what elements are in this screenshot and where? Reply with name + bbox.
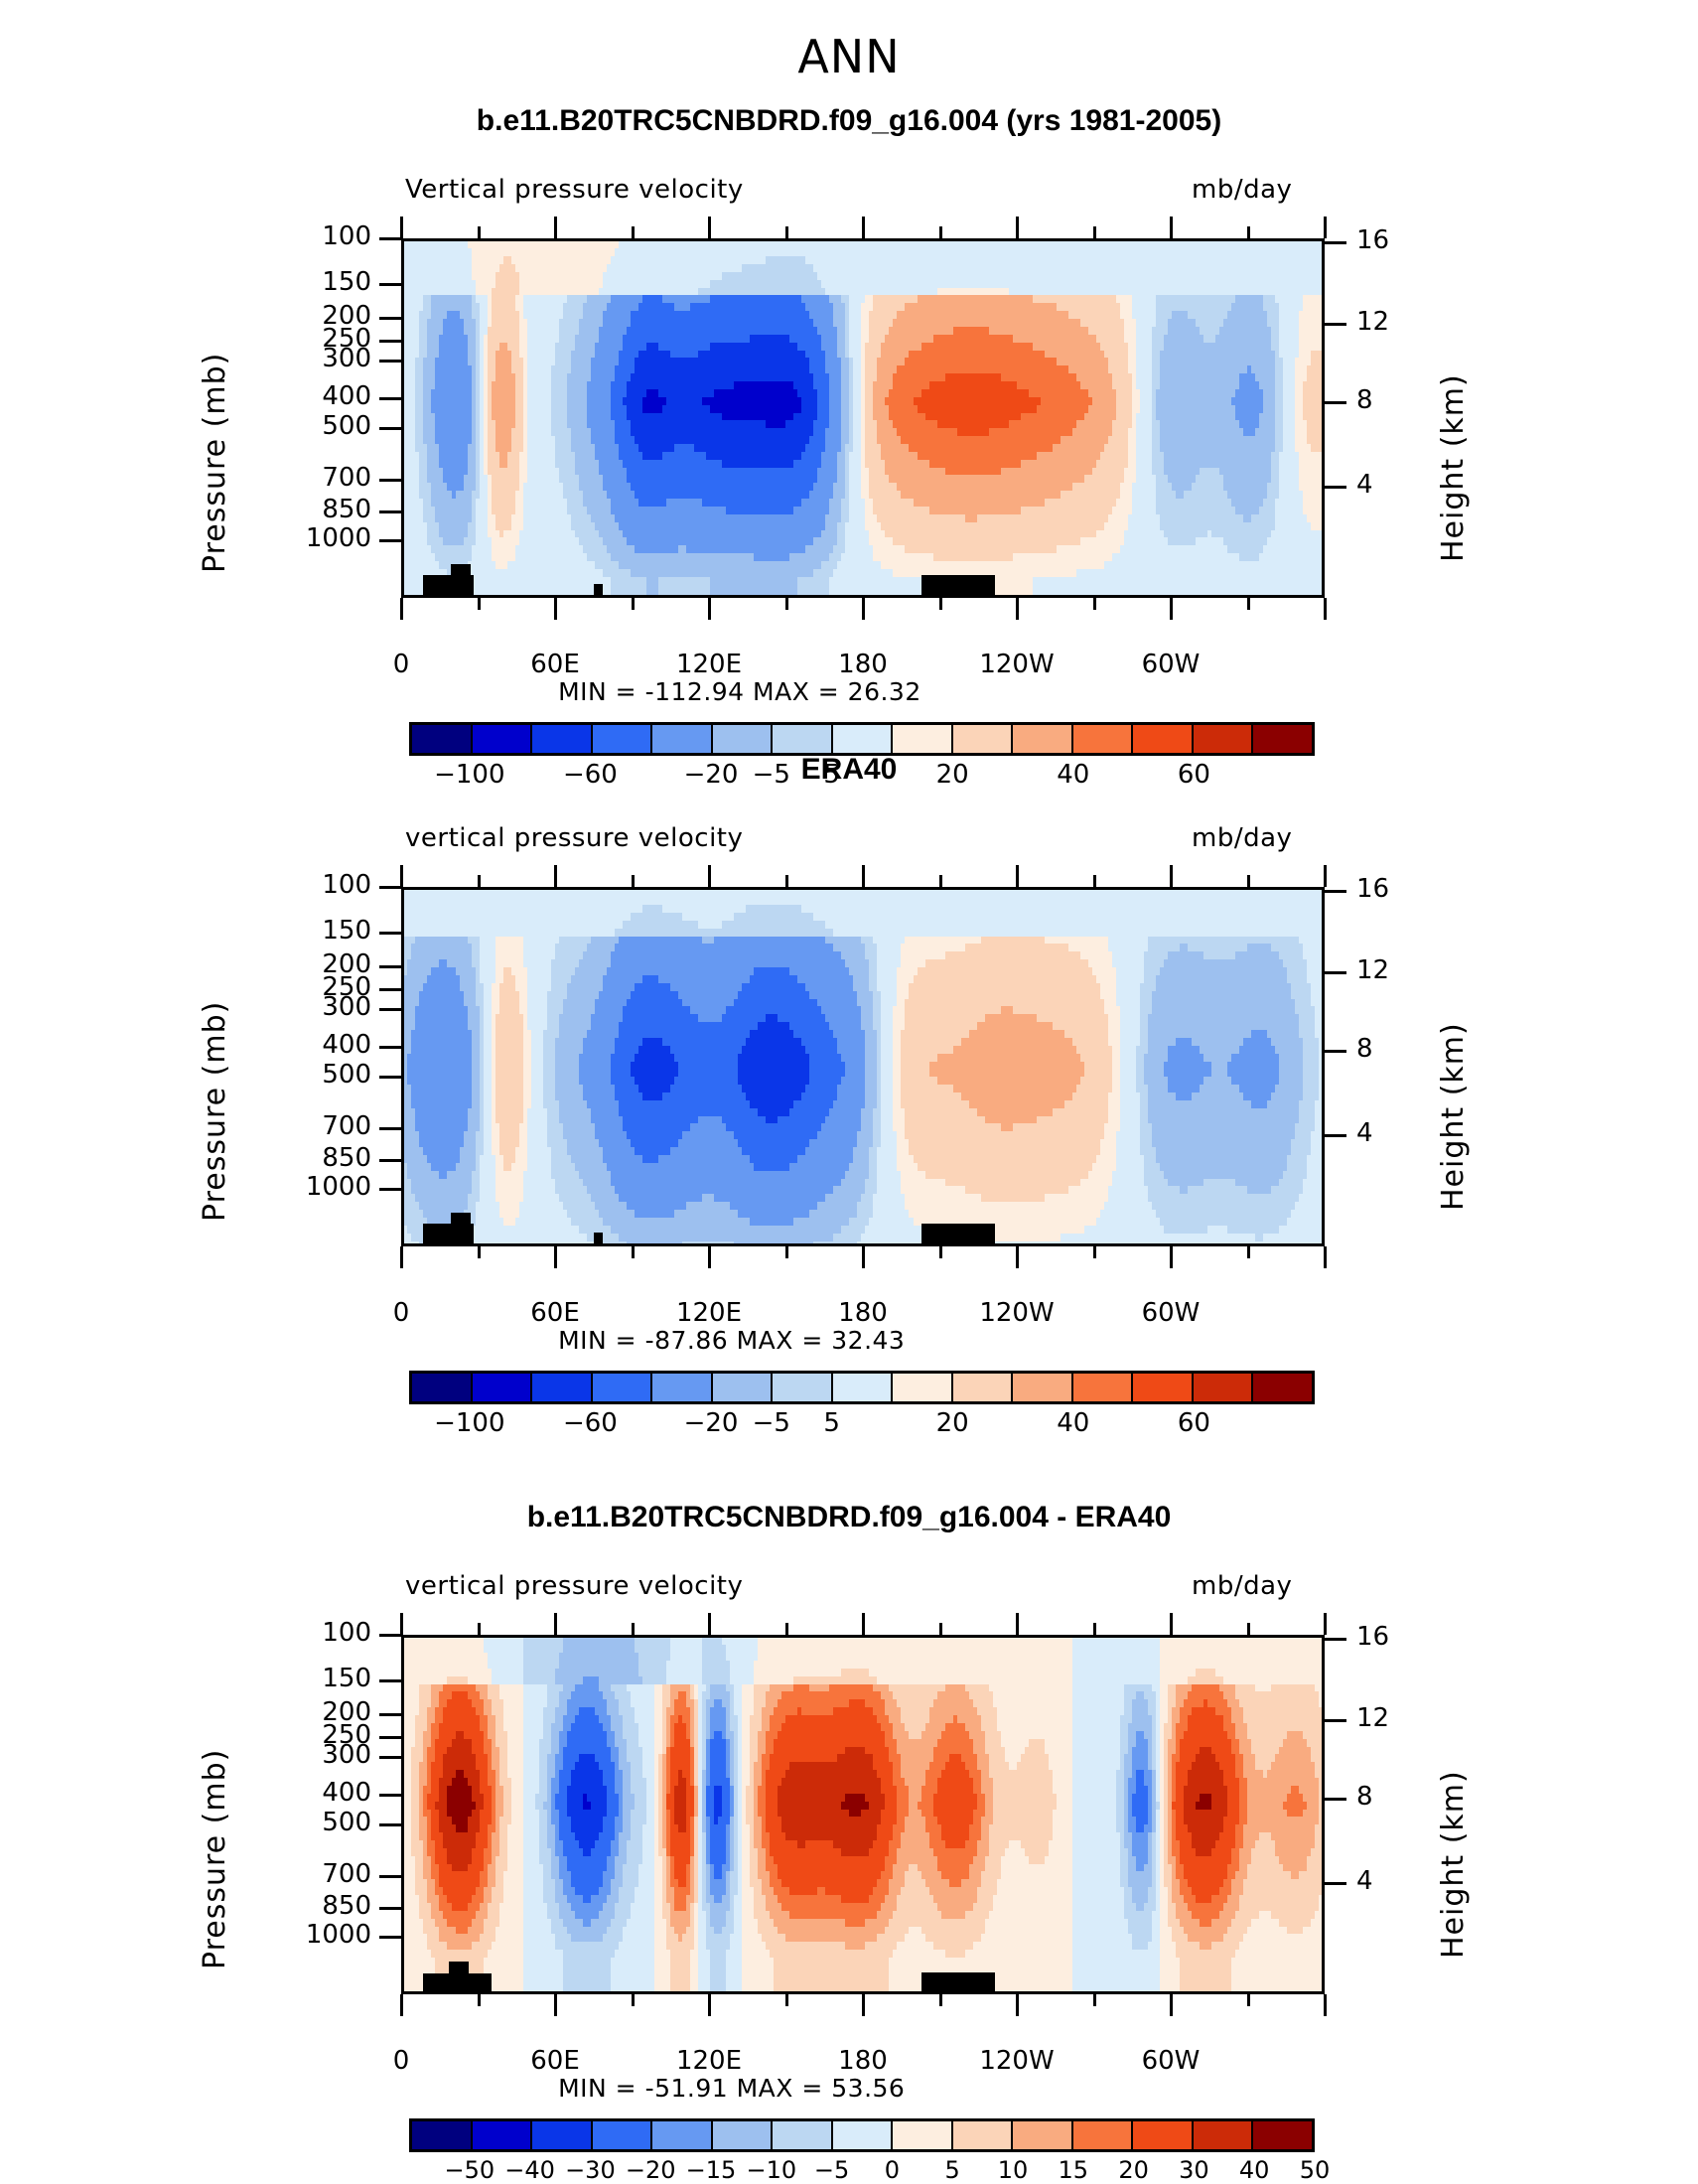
pressure-tick-label: 150 (222, 1664, 371, 1693)
lon-tick (554, 1246, 557, 1268)
contour-plot (401, 1635, 1325, 1994)
lon-tick (1170, 1246, 1173, 1268)
colorbar-swatch (1194, 2121, 1254, 2149)
lon-tick (862, 1246, 865, 1268)
units-label: mb/day (1192, 823, 1292, 853)
height-tick-label: 8 (1356, 1034, 1373, 1064)
lon-tick-top (1016, 217, 1019, 238)
height-tick-label: 8 (1356, 385, 1373, 415)
colorbar-swatch (1194, 1374, 1254, 1401)
pressure-tick (379, 317, 401, 320)
colorbar-swatch (713, 2121, 774, 2149)
lon-tick-label: 180 (793, 650, 932, 679)
pressure-tick (379, 510, 401, 513)
lon-tick-label: 60W (1101, 1298, 1240, 1328)
height-tick (1325, 971, 1346, 974)
lon-tick (1170, 598, 1173, 620)
colorbar-swatch (532, 1374, 593, 1401)
lon-tick-top (862, 1613, 865, 1635)
pressure-axis-title: Pressure (mb) (198, 352, 232, 572)
lon-tick-top (478, 1623, 481, 1635)
height-tick (1325, 1719, 1346, 1722)
pressure-tick (379, 1679, 401, 1682)
pressure-tick-label: 700 (222, 463, 371, 493)
lon-tick (862, 1994, 865, 2016)
min-max-label: MIN = -112.94 MAX = 26.32 (558, 677, 921, 706)
lon-tick (1324, 598, 1327, 620)
pressure-tick-label: 100 (222, 1618, 371, 1648)
colorbar (409, 1371, 1315, 1404)
lon-tick (1016, 598, 1019, 620)
lon-tick (1170, 1994, 1173, 2016)
pressure-tick-label: 1000 (222, 1172, 371, 1202)
colorbar-swatch (593, 1374, 653, 1401)
pressure-axis-title: Pressure (mb) (198, 1748, 232, 1968)
variable-name: vertical pressure velocity (405, 823, 743, 853)
height-axis-title: Height (km) (1436, 1022, 1471, 1211)
lon-tick (708, 1246, 711, 1268)
height-tick-label: 4 (1356, 1866, 1373, 1896)
pressure-tick-label: 300 (222, 1740, 371, 1770)
topography-mask (451, 564, 471, 595)
height-axis-title: Height (km) (1436, 373, 1471, 562)
pressure-tick (379, 1794, 401, 1797)
colorbar-swatch (1073, 725, 1134, 753)
colorbar-swatch (773, 725, 833, 753)
lon-tick-label: 0 (332, 2046, 471, 2076)
colorbar (409, 722, 1315, 756)
colorbar-swatch (412, 2121, 473, 2149)
lon-tick-top (939, 1623, 942, 1635)
lon-tick-top (1170, 865, 1173, 887)
pressure-tick-label: 1000 (222, 1920, 371, 1950)
colorbar-swatch (893, 1374, 953, 1401)
colorbar-swatch (1253, 1374, 1312, 1401)
colorbar-swatch (1073, 1374, 1134, 1401)
height-tick-label: 12 (1356, 955, 1389, 985)
pressure-tick (379, 886, 401, 889)
lon-tick-label: 0 (332, 650, 471, 679)
height-tick-label: 8 (1356, 1782, 1373, 1812)
lon-tick-top (632, 1623, 635, 1635)
pressure-tick (379, 340, 401, 343)
colorbar-swatch (1073, 2121, 1134, 2149)
pressure-tick (379, 1188, 401, 1191)
height-tick-label: 16 (1356, 225, 1389, 255)
pressure-tick (379, 1936, 401, 1939)
lon-tick-top (1324, 1613, 1327, 1635)
pressure-tick (379, 1046, 401, 1049)
colorbar-label: 50 (1265, 2156, 1364, 2184)
pressure-tick (379, 539, 401, 542)
colorbar-swatch (953, 1374, 1014, 1401)
lon-tick (708, 1994, 711, 2016)
lon-tick (632, 1246, 635, 1258)
colorbar-label: −100 (410, 1408, 529, 1438)
pressure-tick-label: 100 (222, 870, 371, 900)
lon-tick (632, 1994, 635, 2006)
lon-tick (478, 1994, 481, 2006)
variable-name: Vertical pressure velocity (405, 175, 744, 205)
pressure-tick (379, 988, 401, 991)
lon-tick-top (1170, 1613, 1173, 1635)
lon-tick (400, 1246, 403, 1268)
lon-tick (554, 598, 557, 620)
lon-tick (785, 598, 788, 610)
min-max-label: MIN = -87.86 MAX = 32.43 (558, 1326, 905, 1355)
pressure-tick-label: 850 (222, 1891, 371, 1921)
panel-title: b.e11.B20TRC5CNBDRD.f09_g16.004 (yrs 198… (0, 104, 1698, 138)
height-tick (1325, 1638, 1346, 1641)
lon-tick-label: 120W (947, 650, 1086, 679)
colorbar (409, 2118, 1315, 2152)
height-tick (1325, 1882, 1346, 1885)
lon-tick (1093, 1994, 1096, 2006)
height-tick (1325, 890, 1346, 893)
pressure-tick (379, 1076, 401, 1079)
colorbar-swatch (833, 2121, 894, 2149)
pressure-tick-label: 300 (222, 992, 371, 1022)
pressure-tick-label: 400 (222, 1778, 371, 1808)
topography-mask (449, 1962, 469, 1991)
pressure-tick-label: 1000 (222, 523, 371, 553)
colorbar-swatch (1133, 1374, 1194, 1401)
min-max-label: MIN = -51.91 MAX = 53.56 (558, 2074, 905, 2103)
lon-tick-label: 120W (947, 1298, 1086, 1328)
lon-tick (554, 1994, 557, 2016)
colorbar-swatch (1133, 725, 1194, 753)
height-tick (1325, 401, 1346, 404)
topography-mask (594, 584, 603, 595)
colorbar-label: 20 (893, 1408, 1012, 1438)
height-tick-label: 12 (1356, 307, 1389, 337)
lon-tick-top (1170, 217, 1173, 238)
colorbar-swatch (412, 725, 473, 753)
colorbar-swatch (532, 2121, 593, 2149)
colorbar-swatch (1194, 725, 1254, 753)
lon-tick (1093, 598, 1096, 610)
colorbar-swatch (1133, 2121, 1194, 2149)
pressure-tick-label: 400 (222, 1030, 371, 1060)
pressure-tick (379, 1907, 401, 1910)
pressure-tick (379, 237, 401, 240)
lon-tick-top (1247, 1623, 1250, 1635)
pressure-tick-label: 400 (222, 381, 371, 411)
lon-tick-top (1016, 1613, 1019, 1635)
lon-tick-label: 60E (486, 2046, 625, 2076)
lon-tick-label: 60W (1101, 2046, 1240, 2076)
lon-tick (1324, 1246, 1327, 1268)
lon-tick-top (708, 217, 711, 238)
contour-plot (401, 887, 1325, 1246)
pressure-tick-label: 150 (222, 267, 371, 297)
pressure-tick-label: 850 (222, 495, 371, 524)
panel-title: ERA40 (0, 753, 1698, 787)
lon-tick-top (400, 865, 403, 887)
lon-tick (1016, 1994, 1019, 2016)
lon-tick (1247, 598, 1250, 610)
height-tick-label: 16 (1356, 874, 1389, 904)
pressure-tick (379, 360, 401, 363)
height-tick-label: 12 (1356, 1703, 1389, 1733)
lon-tick (1324, 1994, 1327, 2016)
height-tick (1325, 1798, 1346, 1801)
lon-tick-top (785, 875, 788, 887)
lon-tick-label: 120E (639, 2046, 778, 2076)
lon-tick (939, 1246, 942, 1258)
colorbar-swatch (953, 725, 1014, 753)
lon-tick-top (1093, 875, 1096, 887)
colorbar-swatch (473, 725, 533, 753)
colorbar-swatch (833, 725, 894, 753)
lon-tick-top (1016, 865, 1019, 887)
colorbar-swatch (652, 1374, 713, 1401)
pressure-tick (379, 397, 401, 400)
lon-tick (1093, 1246, 1096, 1258)
height-tick (1325, 1050, 1346, 1053)
lon-tick-label: 120E (639, 650, 778, 679)
height-tick-label: 4 (1356, 1118, 1373, 1148)
colorbar-swatch (833, 1374, 894, 1401)
pressure-tick (379, 1875, 401, 1878)
pressure-tick (379, 1008, 401, 1011)
pressure-tick (379, 1634, 401, 1637)
pressure-tick-label: 300 (222, 344, 371, 373)
lon-tick-top (939, 226, 942, 238)
colorbar-swatch (1253, 2121, 1312, 2149)
colorbar-swatch (893, 2121, 953, 2149)
lon-tick-label: 60E (486, 650, 625, 679)
topography-mask (921, 1972, 995, 1991)
lon-tick-top (862, 217, 865, 238)
lon-tick-top (1324, 865, 1327, 887)
lon-tick-top (1093, 1623, 1096, 1635)
colorbar-swatch (773, 2121, 833, 2149)
colorbar-label: 5 (773, 1408, 892, 1438)
lon-tick-top (632, 875, 635, 887)
lon-tick-top (400, 217, 403, 238)
lon-tick-top (785, 1623, 788, 1635)
pressure-tick-label: 850 (222, 1143, 371, 1173)
lon-tick (862, 598, 865, 620)
pressure-tick (379, 965, 401, 968)
lon-tick-top (1093, 226, 1096, 238)
colorbar-swatch (473, 2121, 533, 2149)
topography-mask (921, 575, 995, 595)
pressure-tick-label: 100 (222, 221, 371, 251)
lon-tick-top (862, 865, 865, 887)
pressure-tick-label: 700 (222, 1859, 371, 1889)
pressure-tick (379, 479, 401, 482)
lon-tick-top (400, 1613, 403, 1635)
colorbar-swatch (713, 725, 774, 753)
lon-tick-top (478, 226, 481, 238)
lon-tick-label: 60E (486, 1298, 625, 1328)
lon-tick (708, 598, 711, 620)
pressure-tick-label: 500 (222, 1808, 371, 1837)
lon-tick-label: 120W (947, 2046, 1086, 2076)
colorbar-swatch (1253, 725, 1312, 753)
colorbar-swatch (532, 725, 593, 753)
lon-tick-top (939, 875, 942, 887)
contour-plot (401, 238, 1325, 598)
pressure-tick-label: 500 (222, 1060, 371, 1090)
lon-tick-top (554, 865, 557, 887)
lon-tick (1247, 1994, 1250, 2006)
colorbar-swatch (1013, 2121, 1073, 2149)
colorbar-swatch (953, 2121, 1014, 2149)
lon-tick (400, 1994, 403, 2016)
units-label: mb/day (1192, 1571, 1292, 1601)
pressure-tick-label: 500 (222, 411, 371, 441)
lon-tick-top (708, 865, 711, 887)
height-tick-label: 4 (1356, 470, 1373, 500)
colorbar-swatch (593, 2121, 653, 2149)
colorbar-label: 40 (1014, 1408, 1133, 1438)
colorbar-swatch (773, 1374, 833, 1401)
lon-tick-top (554, 217, 557, 238)
topography-mask (451, 1213, 471, 1243)
lon-tick (632, 598, 635, 610)
pressure-tick (379, 427, 401, 430)
lon-tick-label: 180 (793, 2046, 932, 2076)
lon-tick-label: 0 (332, 1298, 471, 1328)
lon-tick (939, 1994, 942, 2006)
colorbar-swatch (1013, 725, 1073, 753)
colorbar-swatch (713, 1374, 774, 1401)
lon-tick-top (1324, 217, 1327, 238)
lon-tick (939, 598, 942, 610)
height-axis-title: Height (km) (1436, 1770, 1471, 1959)
lon-tick (1016, 1246, 1019, 1268)
lon-tick-top (554, 1613, 557, 1635)
colorbar-swatch (473, 1374, 533, 1401)
height-tick (1325, 1134, 1346, 1137)
pressure-tick (379, 283, 401, 286)
lon-tick (478, 1246, 481, 1258)
pressure-tick (379, 932, 401, 935)
lon-tick (478, 598, 481, 610)
colorbar-swatch (652, 725, 713, 753)
colorbar-swatch (593, 725, 653, 753)
lon-tick (1247, 1246, 1250, 1258)
pressure-tick-label: 150 (222, 916, 371, 946)
height-tick (1325, 486, 1346, 489)
height-tick (1325, 323, 1346, 326)
colorbar-swatch (652, 2121, 713, 2149)
lon-tick (400, 598, 403, 620)
lon-tick-top (708, 1613, 711, 1635)
colorbar-swatch (1013, 1374, 1073, 1401)
lon-tick-top (1247, 875, 1250, 887)
lon-tick-top (478, 875, 481, 887)
lon-tick-top (632, 226, 635, 238)
lon-tick (785, 1994, 788, 2006)
lon-tick-label: 60W (1101, 650, 1240, 679)
colorbar-swatch (412, 1374, 473, 1401)
pressure-tick (379, 1127, 401, 1130)
pressure-axis-title: Pressure (mb) (198, 1000, 232, 1221)
lon-tick-label: 120E (639, 1298, 778, 1328)
panel-title: b.e11.B20TRC5CNBDRD.f09_g16.004 - ERA40 (0, 1501, 1698, 1534)
figure-root: ANN b.e11.B20TRC5CNBDRD.f09_g16.004 (yrs… (0, 0, 1698, 2060)
pressure-tick (379, 1823, 401, 1826)
pressure-tick (379, 1713, 401, 1716)
colorbar-label: 60 (1134, 1408, 1253, 1438)
pressure-tick (379, 1159, 401, 1162)
colorbar-swatch (893, 725, 953, 753)
lon-tick (785, 1246, 788, 1258)
pressure-tick (379, 1756, 401, 1759)
season-title: ANN (0, 30, 1698, 83)
lon-tick-top (1247, 226, 1250, 238)
pressure-tick (379, 1736, 401, 1739)
topography-mask (921, 1224, 995, 1243)
variable-name: vertical pressure velocity (405, 1571, 743, 1601)
units-label: mb/day (1192, 175, 1292, 205)
pressure-tick-label: 700 (222, 1111, 371, 1141)
lon-tick-top (785, 226, 788, 238)
lon-tick-label: 180 (793, 1298, 932, 1328)
height-tick (1325, 241, 1346, 244)
colorbar-label: −60 (530, 1408, 649, 1438)
height-tick-label: 16 (1356, 1622, 1389, 1652)
topography-mask (594, 1233, 603, 1243)
